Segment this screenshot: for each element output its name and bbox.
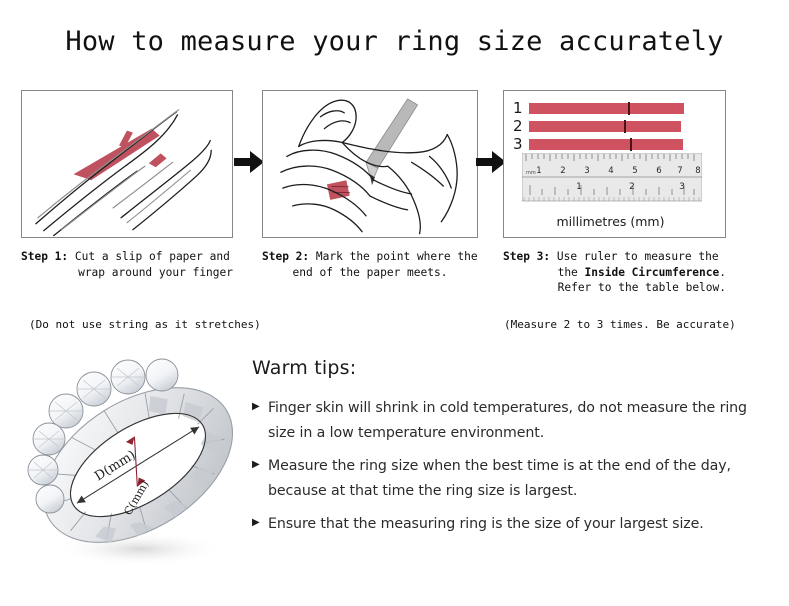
svg-text:5: 5	[632, 166, 637, 176]
step-3-label: Step 3:	[503, 250, 550, 263]
step-3-column: 1 2 3	[503, 90, 726, 296]
step-3-note: (Measure 2 to 3 times. Be accurate)	[504, 318, 736, 331]
svg-text:3: 3	[584, 166, 589, 176]
step-2-line1: Mark the point where the	[316, 250, 478, 263]
step-2-label: Step 2:	[262, 250, 309, 263]
measured-strip-row-3: 3	[513, 135, 683, 153]
strip-number-3: 3	[513, 135, 529, 153]
step-1-line1: Cut a slip of paper and	[75, 250, 230, 263]
step-2-caption: Step 2: Mark the point where the end of …	[262, 249, 478, 280]
bottom-section: D(mm) C(mm) Warm tips: ▶ Finger skin wil…	[0, 345, 789, 606]
svg-text:1: 1	[536, 166, 541, 176]
tip-item: ▶ Ensure that the measuring ring is the …	[252, 512, 772, 537]
step-2-illustration-box	[262, 90, 478, 238]
ring-diagram-icon: D(mm) C(mm)	[22, 353, 254, 583]
strip-number-1: 1	[513, 99, 529, 117]
step-1-note: (Do not use string as it stretches)	[29, 318, 261, 331]
step-2-line2: end of the paper meets.	[262, 265, 478, 281]
bullet-triangle-icon: ▶	[252, 454, 268, 470]
step-1-column: Step 1: Cut a slip of paper and wrap aro…	[21, 90, 233, 280]
svg-text:7: 7	[677, 166, 682, 176]
tip-item: ▶ Measure the ring size when the best ti…	[252, 454, 772, 504]
step-3-line2-pre: the	[558, 266, 585, 279]
step-1-label: Step 1:	[21, 250, 68, 263]
strip-mark-1	[628, 102, 630, 115]
hand-marking-paper-with-pen-icon	[263, 91, 477, 238]
svg-text:8: 8	[695, 166, 700, 176]
tip-text: Finger skin will shrink in cold temperat…	[268, 396, 772, 446]
step-1-caption: Step 1: Cut a slip of paper and wrap aro…	[21, 249, 233, 280]
step-2-column: Step 2: Mark the point where the end of …	[262, 90, 478, 280]
measured-strip-row-2: 2	[513, 117, 681, 135]
tip-text: Ensure that the measuring ring is the si…	[268, 512, 772, 537]
step-3-line2-post: .	[719, 266, 726, 279]
svg-text:4: 4	[608, 166, 613, 176]
measured-strip-row-1: 1	[513, 99, 684, 117]
step-1-illustration-box	[21, 90, 233, 238]
svg-text:2: 2	[629, 182, 635, 192]
strip-mark-3	[630, 138, 632, 151]
paper-strip-3	[529, 139, 683, 150]
step-3-caption: Step 3: Use ruler to measure the the Ins…	[503, 249, 726, 296]
warm-tips-title: Warm tips:	[252, 357, 772, 379]
svg-text:mm: mm	[526, 170, 536, 176]
svg-text:2: 2	[560, 166, 565, 176]
paper-strip-1	[529, 103, 684, 114]
page-title: How to measure your ring size accurately	[0, 26, 789, 57]
step-3-line3: Refer to the table below.	[503, 280, 726, 296]
bullet-triangle-icon: ▶	[252, 396, 268, 412]
steps-row: Step 1: Cut a slip of paper and wrap aro…	[0, 90, 789, 340]
hand-with-paper-strip-icon	[22, 91, 232, 238]
step-1-line2: wrap around your finger	[21, 265, 233, 281]
tip-text: Measure the ring size when the best time…	[268, 454, 772, 504]
ruler-unit-label: millimetres (mm)	[504, 214, 717, 229]
step-3-illustration-box: 1 2 3	[503, 90, 726, 238]
inside-circumference-emphasis: Inside Circumference	[585, 266, 720, 279]
warm-tips-panel: Warm tips: ▶ Finger skin will shrink in …	[252, 357, 772, 545]
strip-number-2: 2	[513, 117, 529, 135]
paper-strip-2	[529, 121, 681, 132]
arrow-right-icon-1	[234, 148, 264, 176]
svg-text:6: 6	[656, 166, 661, 176]
strip-mark-2	[624, 120, 626, 133]
arrow-right-icon-2	[476, 148, 506, 176]
tip-item: ▶ Finger skin will shrink in cold temper…	[252, 396, 772, 446]
ruler-icon: 123 456 78 mm 123	[522, 153, 702, 203]
step-3-line1: Use ruler to measure the	[557, 250, 719, 263]
bullet-triangle-icon: ▶	[252, 512, 268, 528]
